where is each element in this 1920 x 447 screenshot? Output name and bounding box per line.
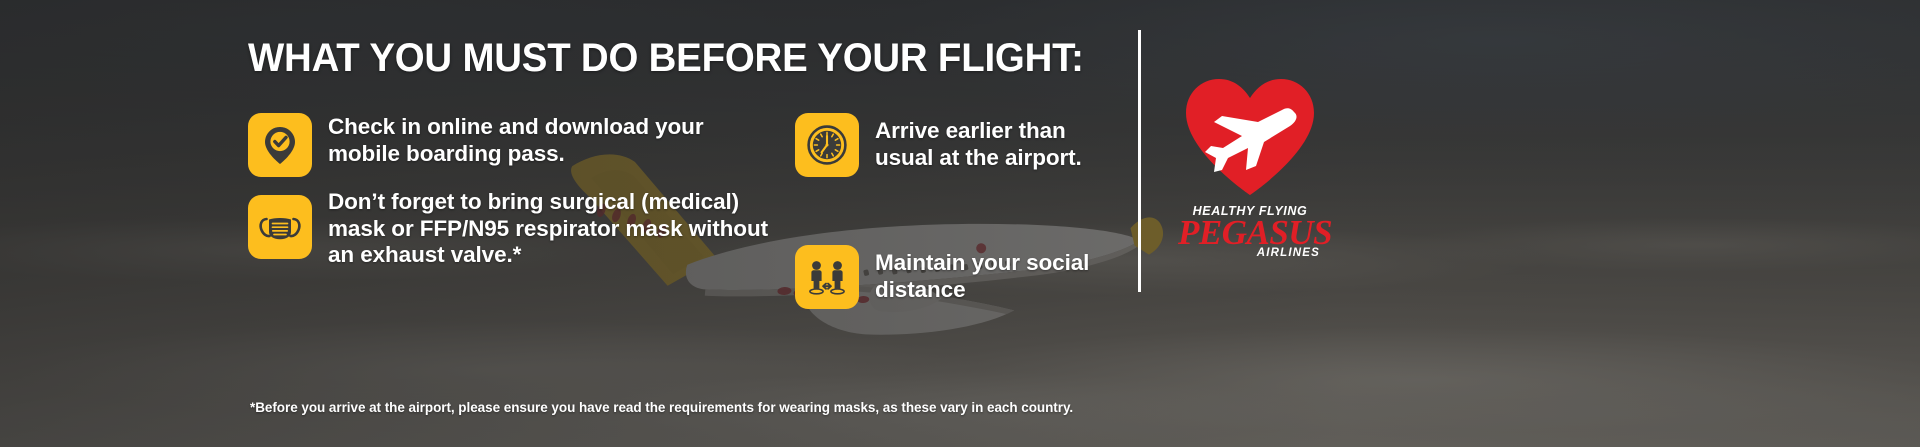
tip-item-social-distance: Maintain your social distance (795, 245, 1125, 309)
tip-text: Check in online and download your mobile… (328, 113, 768, 167)
surgical-mask-icon (248, 195, 312, 259)
vertical-divider (1138, 30, 1141, 292)
clock-icon (795, 113, 859, 177)
tips-column-right: Arrive earlier than usual at the airport… (795, 113, 1125, 327)
tip-item-arrive-early: Arrive earlier than usual at the airport… (795, 113, 1125, 177)
tip-item-mask: Don’t forget to bring surgical (medical)… (248, 195, 768, 269)
tip-item-check-in: Check in online and download your mobile… (248, 113, 768, 177)
logo-brand: PEGASUS (1178, 217, 1322, 249)
tip-text: Maintain your social distance (875, 245, 1125, 303)
tips-column-left: Check in online and download your mobile… (248, 113, 768, 287)
tip-text: Don’t forget to bring surgical (medical)… (328, 189, 768, 269)
page-title: WHAT YOU MUST DO BEFORE YOUR FLIGHT: (248, 36, 1084, 81)
heart-with-airplane-icon (1178, 72, 1322, 200)
location-pin-check-icon (248, 113, 312, 177)
tip-text: Arrive earlier than usual at the airport… (875, 113, 1125, 171)
footnote-disclaimer: *Before you arrive at the airport, pleas… (250, 400, 1073, 415)
social-distance-icon (795, 245, 859, 309)
pegasus-logo: HEALTHY FLYING PEGASUS AIRLINES (1178, 72, 1322, 259)
